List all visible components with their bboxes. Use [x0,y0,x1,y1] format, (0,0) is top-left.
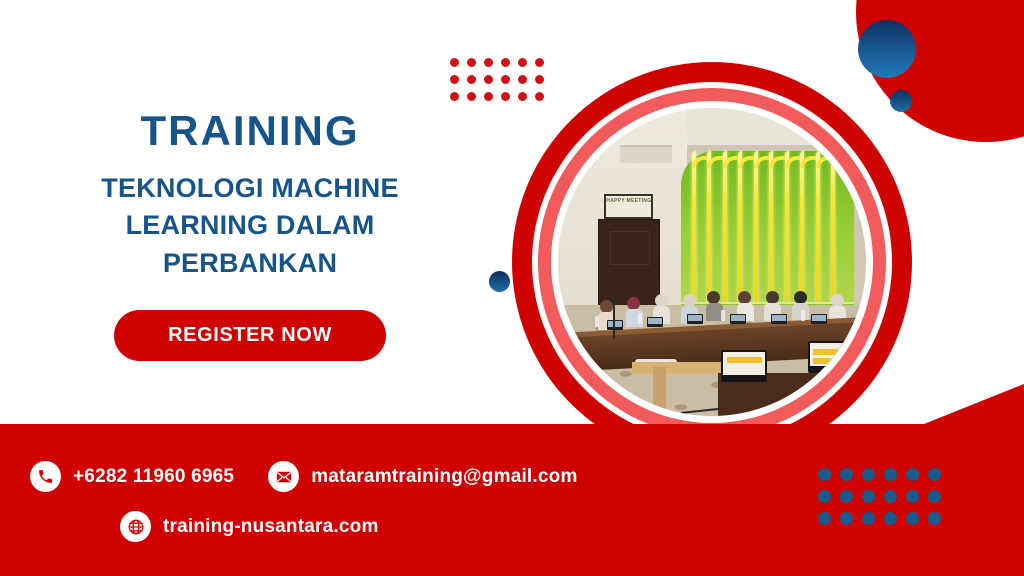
dot [484,75,493,84]
subtitle-line-1: TEKNOLOGI MACHINE [60,170,440,207]
photo-laptop [771,314,787,324]
contact-row-primary: +6282 11960 6965 mataramtraining@gmail.c… [30,461,612,492]
globe-icon [120,511,151,542]
dot [518,92,527,101]
contact-phone-label: +6282 11960 6965 [73,466,234,488]
email-icon [268,461,299,492]
dot [518,58,527,67]
dot [484,92,493,101]
training-room-photo: HAPPY MEETING [558,108,866,416]
photo-sign-text: HAPPY MEETING [606,198,651,204]
dot [501,75,510,84]
photo-foreground-laptop [808,341,854,373]
dot [535,58,544,67]
dot [840,512,853,525]
blue-circle-large-decor [858,20,916,78]
dot [884,468,897,481]
contact-website-label: training-nusantara.com [163,516,379,538]
subtitle-line-2: LEARNING DALAM [60,207,440,244]
dot [535,75,544,84]
contact-phone[interactable]: +6282 11960 6965 [30,461,234,492]
photo-laptop [647,317,663,327]
photo-ring-salmon: HAPPY MEETING [538,88,886,436]
dot [484,58,493,67]
photo-projector-stand-top [632,362,721,374]
dot [501,92,510,101]
photo-foreground-laptop [721,350,767,382]
dot [906,512,919,525]
dot [467,75,476,84]
dot [928,512,941,525]
photo-ring-white-outer: HAPPY MEETING [532,82,892,442]
dot [450,75,459,84]
photo-participant [792,291,808,321]
dot [518,75,527,84]
photo-projector-stand [653,367,666,416]
promo-banner: HAPPY MEETING [0,0,1024,576]
photo-bottle [721,310,725,321]
contact-website[interactable]: training-nusantara.com [120,511,379,542]
photo-bottle [801,310,805,321]
dot [450,92,459,101]
photo-ac-unit [620,145,672,163]
dot [884,512,897,525]
photo-happy-meeting-sign: HAPPY MEETING [604,194,653,219]
blue-circle-small-decor [890,90,912,112]
dot [840,468,853,481]
photo-cable [613,296,615,339]
dot [928,490,941,503]
dot [906,468,919,481]
page-title: TRAINING [60,108,440,154]
subtitle-block: TEKNOLOGI MACHINE LEARNING DALAM PERBANK… [60,170,440,282]
dot [862,490,875,503]
dot [818,512,831,525]
red-dot-grid-decor [450,58,547,104]
photo-laptop [811,314,827,324]
dot [818,468,831,481]
contact-email[interactable]: mataramtraining@gmail.com [268,461,577,492]
register-now-button[interactable]: REGISTER NOW [114,310,386,361]
photo-laptop [687,314,703,324]
dot [535,92,544,101]
headline-block: TRAINING TEKNOLOGI MACHINE LEARNING DALA… [60,108,440,361]
footer-red-wedge-decor [924,384,1024,424]
blue-dot-grid-decor [818,468,944,528]
blue-circle-left-decor [489,271,510,292]
photo-bottle [638,313,642,324]
dot [840,490,853,503]
photo-laptop [730,314,746,324]
contact-email-label: mataramtraining@gmail.com [311,466,577,488]
phone-icon [30,461,61,492]
dot [501,58,510,67]
dot [928,468,941,481]
photo-ring-white-inner: HAPPY MEETING [551,101,873,423]
dot [818,490,831,503]
dot [467,92,476,101]
dot [862,468,875,481]
dot [467,58,476,67]
photo-bottle [595,316,599,327]
dot [862,512,875,525]
dot [450,58,459,67]
photo-participant [706,291,722,321]
photo-ring-outer: HAPPY MEETING [512,62,912,462]
dot [906,490,919,503]
contact-row-secondary: training-nusantara.com [120,511,413,542]
subtitle-line-3: PERBANKAN [60,245,440,282]
dot [884,490,897,503]
